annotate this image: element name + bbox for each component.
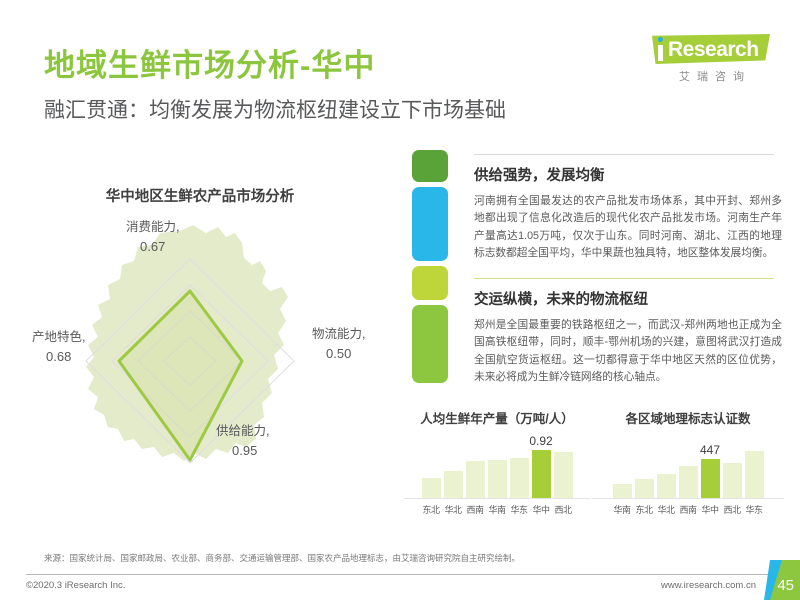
page-subtitle: 融汇贯通：均衡发展为物流枢纽建设立下市场基础 <box>44 94 506 124</box>
bar-category-label: 华中 <box>701 503 720 516</box>
insight-heading-supply: 供给强势，发展均衡 <box>474 164 782 185</box>
swatch-yellow-green <box>412 266 448 300</box>
bar-categories-output: 东北华北西南华南华东华中西北 <box>404 503 590 516</box>
bar-category-label: 华东 <box>510 503 529 516</box>
slide-header: 地域生鲜市场分析-华中 融汇贯通：均衡发展为物流枢纽建设立下市场基础 Resea… <box>0 0 800 140</box>
bar-chart-title-output: 人均生鲜年产量（万吨/人） <box>404 408 590 427</box>
per-capita-output-chart: 人均生鲜年产量（万吨/人） 0.92 东北华北西南华南华东华中西北 <box>404 408 590 516</box>
swatch-cyan <box>412 187 448 261</box>
website-url: www.iresearch.com.cn <box>661 580 756 591</box>
swatch-light-green <box>412 305 448 383</box>
bar-西南 <box>679 466 698 498</box>
bar-华北 <box>444 471 463 498</box>
page-title: 地域生鲜市场分析-华中 <box>44 40 375 85</box>
bar-categories-geo: 华南东北华北西南华中西北华东 <box>592 503 784 516</box>
swatch-dark-green <box>412 150 448 182</box>
radar-value-origin: 0.68 <box>46 349 71 364</box>
bar-chart-title-geo: 各区域地理标志认证数 <box>592 408 784 427</box>
bar-category-label: 华南 <box>488 503 507 516</box>
bar-category-label: 华中 <box>532 503 551 516</box>
bar-西北 <box>554 452 573 498</box>
bar-华东 <box>510 458 529 498</box>
bar-西北 <box>723 463 742 498</box>
bar-category-label: 西北 <box>723 503 742 516</box>
insight-block-supply: 供给强势，发展均衡 河南拥有全国最发达的农产品批发市场体系，其中开封、郑州多地都… <box>474 154 782 262</box>
swatch-column <box>412 150 448 388</box>
logo-wordmark: Research <box>668 38 759 62</box>
radar-label-origin: 产地特色, <box>32 329 85 344</box>
bar-category-label: 西北 <box>554 503 573 516</box>
bar-华北 <box>657 474 676 498</box>
bar-category-label: 华北 <box>657 503 676 516</box>
radar-value-supply: 0.95 <box>232 443 257 458</box>
insight-block-logistics: 交运纵横，未来的物流枢纽 郑州是全国最重要的铁路枢纽之一，而武汉-郑州两地也正成… <box>474 278 782 386</box>
insight-body-logistics: 郑州是全国最重要的铁路枢纽之一，而武汉-郑州两地也正成为全国高铁枢纽带，同时，顺… <box>474 317 782 386</box>
page-number: 45 <box>777 577 794 594</box>
bar-value-label-geo: 447 <box>690 443 730 457</box>
footer-divider <box>26 574 774 575</box>
radar-label-consumption: 消费能力, <box>126 220 179 234</box>
radar-label-logistics: 物流能力, <box>312 327 365 341</box>
bar-category-label: 东北 <box>635 503 654 516</box>
bar-华中 <box>701 459 720 498</box>
radar-chart-panel: 华中地区生鲜农产品市场分析 消费能力, 0.67 物流能力, 0.50 供给能力… <box>30 185 390 515</box>
insight-heading-logistics: 交运纵横，未来的物流枢纽 <box>474 288 782 309</box>
logo-i-stem-icon <box>658 45 663 61</box>
logo-i-dot-icon <box>658 37 663 42</box>
radar-label-supply: 供给能力, <box>216 424 269 438</box>
geo-indication-chart: 各区域地理标志认证数 447 华南东北华北西南华中西北华东 <box>592 408 784 516</box>
radar-value-logistics: 0.50 <box>326 346 351 361</box>
bar-category-label: 华东 <box>745 503 764 516</box>
radar-value-consumption: 0.67 <box>140 239 165 254</box>
copyright-text: ©2020.3 iResearch Inc. <box>26 580 125 591</box>
source-note: 来源：国家统计局、国家邮政局、农业部、商务部、交通运输管理部、国家农产品地理标志… <box>44 552 520 564</box>
bar-西南 <box>466 461 485 498</box>
bars-geo <box>592 447 784 499</box>
bar-东北 <box>635 479 654 498</box>
bar-category-label: 西南 <box>679 503 698 516</box>
bar-华南 <box>488 460 507 498</box>
bar-华中 <box>532 450 551 498</box>
radar-chart-svg: 消费能力, 0.67 物流能力, 0.50 供给能力, 0.95 产地特色, 0… <box>30 213 390 513</box>
iresearch-logo: Research 艾瑞咨询 <box>638 34 774 90</box>
radar-chart-title: 华中地区生鲜农产品市场分析 <box>30 185 370 206</box>
bar-华东 <box>745 451 764 498</box>
divider <box>474 278 774 279</box>
bar-category-label: 华南 <box>613 503 632 516</box>
logo-chinese-name: 艾瑞咨询 <box>656 68 774 84</box>
insight-body-supply: 河南拥有全国最发达的农产品批发市场体系，其中开封、郑州多地都出现了信息化改造后的… <box>474 193 782 262</box>
bar-value-label-output: 0.92 <box>521 434 561 448</box>
bar-东北 <box>422 478 441 498</box>
divider <box>474 154 774 155</box>
bar-华南 <box>613 484 632 498</box>
bar-category-label: 华北 <box>444 503 463 516</box>
bar-category-label: 东北 <box>422 503 441 516</box>
bar-category-label: 西南 <box>466 503 485 516</box>
bars-output <box>404 447 590 499</box>
